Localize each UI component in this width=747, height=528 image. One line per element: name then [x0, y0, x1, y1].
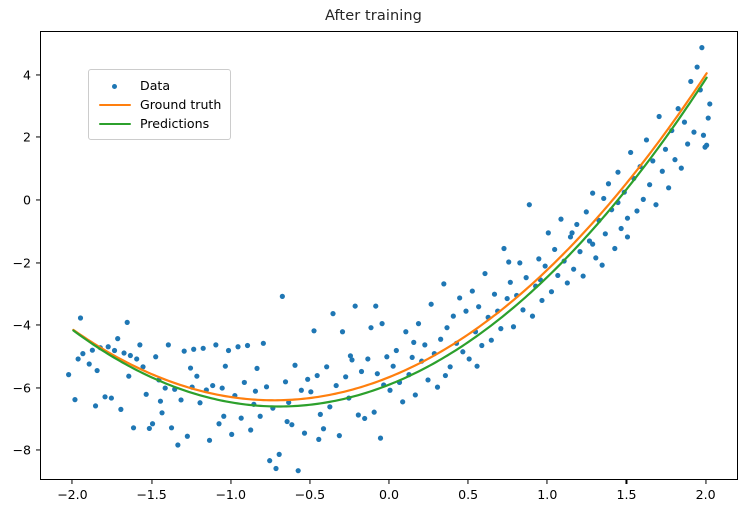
data-point [400, 399, 405, 404]
data-point [273, 466, 278, 471]
x-tick-label: −1.5 [136, 487, 167, 502]
data-point [672, 157, 677, 162]
data-point [536, 256, 541, 261]
data-point [112, 348, 117, 353]
data-point [248, 427, 253, 432]
data-point [615, 170, 620, 175]
data-point [619, 226, 624, 231]
data-point [216, 421, 221, 426]
data-point [679, 166, 684, 171]
data-point [368, 325, 373, 330]
data-point [571, 267, 576, 272]
data-point [375, 371, 380, 376]
x-tick-mark [468, 480, 469, 484]
data-point [321, 426, 326, 431]
x-tick-mark [705, 480, 706, 484]
data-point [489, 338, 494, 343]
data-point [549, 289, 554, 294]
data-point [359, 369, 364, 374]
data-point [543, 263, 548, 268]
y-tick-label: 4 [0, 67, 31, 82]
data-point [520, 307, 525, 312]
data-point [498, 326, 503, 331]
data-point [115, 336, 120, 341]
data-point [289, 422, 294, 427]
data-point [530, 314, 535, 319]
data-point [527, 202, 532, 207]
y-tick-label: 0 [0, 192, 31, 207]
data-point [178, 397, 183, 402]
data-point [264, 384, 269, 389]
data-point [600, 263, 605, 268]
data-point [245, 343, 250, 348]
data-point [285, 419, 290, 424]
data-point [235, 344, 240, 349]
data-point [429, 302, 434, 307]
data-point [90, 348, 95, 353]
data-point [508, 280, 513, 285]
legend-label-predictions: Predictions [140, 116, 209, 131]
data-point [80, 351, 85, 356]
data-point [226, 348, 231, 353]
x-tick-label: 1.0 [537, 487, 557, 502]
data-point [76, 356, 81, 361]
data-point [372, 410, 377, 415]
data-point [422, 342, 427, 347]
data-point [590, 242, 595, 247]
legend-line-icon [97, 117, 133, 131]
x-tick-label: −1.0 [215, 487, 246, 502]
y-tick-label: −4 [0, 318, 31, 333]
data-point [435, 385, 440, 390]
data-point [411, 340, 416, 345]
data-point [78, 315, 83, 320]
x-tick-mark [547, 480, 548, 484]
data-point [448, 364, 453, 369]
data-point [365, 356, 370, 361]
data-point [109, 395, 114, 400]
data-point [704, 143, 709, 148]
legend-item-ground-truth: Ground truth [97, 95, 221, 114]
data-point [524, 275, 529, 280]
data-point [327, 404, 332, 409]
data-point [283, 379, 288, 384]
data-point [280, 294, 285, 299]
data-point [191, 347, 196, 352]
x-tick-mark [626, 480, 627, 484]
data-point [644, 137, 649, 142]
data-point [362, 416, 367, 421]
x-tick-label: −2.0 [57, 487, 88, 502]
data-point [653, 202, 658, 207]
data-point [457, 295, 462, 300]
legend-line-icon [97, 98, 133, 112]
x-tick-label: 2.0 [696, 487, 716, 502]
data-point [425, 377, 430, 382]
data-point [394, 348, 399, 353]
data-point [185, 434, 190, 439]
data-point [261, 341, 266, 346]
data-point [663, 147, 668, 152]
data-point [476, 304, 481, 309]
data-point [379, 321, 384, 326]
data-point [612, 246, 617, 251]
data-point [348, 353, 353, 358]
data-point [194, 374, 199, 379]
data-point [384, 354, 389, 359]
data-point [239, 416, 244, 421]
data-point [66, 372, 71, 377]
data-point [685, 141, 690, 146]
legend-label-ground-truth: Ground truth [140, 97, 221, 112]
data-point [443, 373, 448, 378]
data-point [482, 271, 487, 276]
data-point [340, 329, 345, 334]
data-point [506, 259, 511, 264]
x-tick-mark [388, 480, 389, 484]
data-point [337, 433, 342, 438]
data-point [682, 120, 687, 125]
data-point [676, 106, 681, 111]
data-point [410, 355, 415, 360]
data-point [565, 280, 570, 285]
data-point [467, 356, 472, 361]
data-point [577, 249, 582, 254]
data-point [72, 397, 77, 402]
data-point [641, 197, 646, 202]
data-point [501, 246, 506, 251]
data-point [102, 394, 107, 399]
data-point [378, 436, 383, 441]
data-point [343, 374, 348, 379]
data-point [387, 388, 392, 393]
data-point [277, 452, 282, 457]
data-point [134, 356, 139, 361]
data-point [221, 414, 226, 419]
data-point [315, 373, 320, 378]
data-point [118, 407, 123, 412]
data-point [137, 342, 142, 347]
data-point [242, 380, 247, 385]
plot-area: Data Ground truth Predictions [40, 31, 738, 480]
data-point [569, 230, 574, 235]
data-point [121, 350, 126, 355]
chart-title: After training [0, 8, 747, 24]
data-point [201, 346, 206, 351]
data-point [125, 320, 130, 325]
legend-marker-icon [97, 79, 133, 93]
data-point [106, 344, 111, 349]
data-point [699, 45, 704, 50]
data-point [701, 133, 706, 138]
legend-item-data: Data [97, 76, 221, 95]
data-point [460, 349, 465, 354]
data-point [223, 364, 228, 369]
data-point [95, 368, 100, 373]
data-point [593, 255, 598, 260]
data-point [660, 169, 665, 174]
data-point [159, 410, 164, 415]
data-point [666, 185, 671, 190]
data-point [479, 343, 484, 348]
data-point [552, 247, 557, 252]
data-point [707, 101, 712, 106]
data-point [505, 296, 510, 301]
x-tick-mark [230, 480, 231, 484]
data-point [153, 354, 158, 359]
data-point [601, 196, 606, 201]
data-point [254, 366, 259, 371]
data-point [296, 468, 301, 473]
data-point [706, 115, 711, 120]
data-point [574, 222, 579, 227]
data-point [492, 292, 497, 297]
legend-item-predictions: Predictions [97, 114, 221, 133]
data-point [373, 303, 378, 308]
data-point [334, 383, 339, 388]
x-tick-label: 1.5 [616, 487, 636, 502]
data-point [258, 414, 263, 419]
data-point [220, 385, 225, 390]
data-point [590, 191, 595, 196]
data-point [438, 337, 443, 342]
x-tick-mark [309, 480, 310, 484]
data-point [253, 389, 258, 394]
data-point [147, 426, 152, 431]
data-point [308, 389, 313, 394]
data-point [166, 342, 171, 347]
x-tick-mark [72, 480, 73, 484]
data-point [584, 209, 589, 214]
data-point [229, 432, 234, 437]
data-point [391, 364, 396, 369]
data-point [546, 230, 551, 235]
data-point [444, 325, 449, 330]
data-point [463, 309, 468, 314]
data-point [158, 399, 163, 404]
x-tick-label: 0.5 [458, 487, 478, 502]
data-point [213, 342, 218, 347]
data-point [311, 328, 316, 333]
data-point [144, 392, 149, 397]
data-point [128, 353, 133, 358]
data-point [603, 231, 608, 236]
y-tick-label: 2 [0, 130, 31, 145]
data-point [210, 383, 215, 388]
data-point [657, 114, 662, 119]
data-point [318, 412, 323, 417]
y-tick-label: −2 [0, 255, 31, 270]
data-point [517, 260, 522, 265]
data-point [302, 431, 307, 436]
data-point [511, 324, 516, 329]
data-point [356, 412, 361, 417]
data-point [688, 79, 693, 84]
legend-label-data: Data [140, 78, 170, 93]
data-point [316, 437, 321, 442]
data-point [625, 234, 630, 239]
data-point [539, 298, 544, 303]
data-point [647, 182, 652, 187]
data-point [695, 64, 700, 69]
data-point [126, 374, 131, 379]
x-tick-label: −0.5 [295, 487, 326, 502]
x-tick-label: 0.0 [379, 487, 399, 502]
data-point [474, 364, 479, 369]
data-point [413, 392, 418, 397]
x-tick-mark [151, 480, 152, 484]
data-point [581, 273, 586, 278]
data-point [353, 303, 358, 308]
data-point [305, 377, 310, 382]
data-point [403, 329, 408, 334]
y-tick-label: −8 [0, 443, 31, 458]
data-point [150, 421, 155, 426]
data-point [188, 365, 193, 370]
data-point [87, 361, 92, 366]
data-point [182, 349, 187, 354]
data-point [606, 181, 611, 186]
data-point [634, 208, 639, 213]
data-point [625, 216, 630, 221]
figure: After training −8−6−4−2024−2.0−1.5−1.0−0… [0, 0, 747, 528]
data-point [416, 321, 421, 326]
data-point [558, 217, 563, 222]
data-point [299, 388, 304, 393]
legend: Data Ground truth Predictions [88, 69, 231, 140]
data-point [169, 425, 174, 430]
data-point [324, 364, 329, 369]
data-point [451, 314, 456, 319]
data-point [207, 438, 212, 443]
data-point [330, 311, 335, 316]
data-point [197, 400, 202, 405]
data-point [175, 442, 180, 447]
data-point [131, 425, 136, 430]
data-point [555, 273, 560, 278]
data-point [470, 288, 475, 293]
data-point [267, 458, 272, 463]
data-point [441, 281, 446, 286]
data-point [93, 403, 98, 408]
data-point [292, 363, 297, 368]
y-tick-label: −6 [0, 380, 31, 395]
data-point [691, 130, 696, 135]
data-point [163, 385, 168, 390]
data-point [628, 150, 633, 155]
